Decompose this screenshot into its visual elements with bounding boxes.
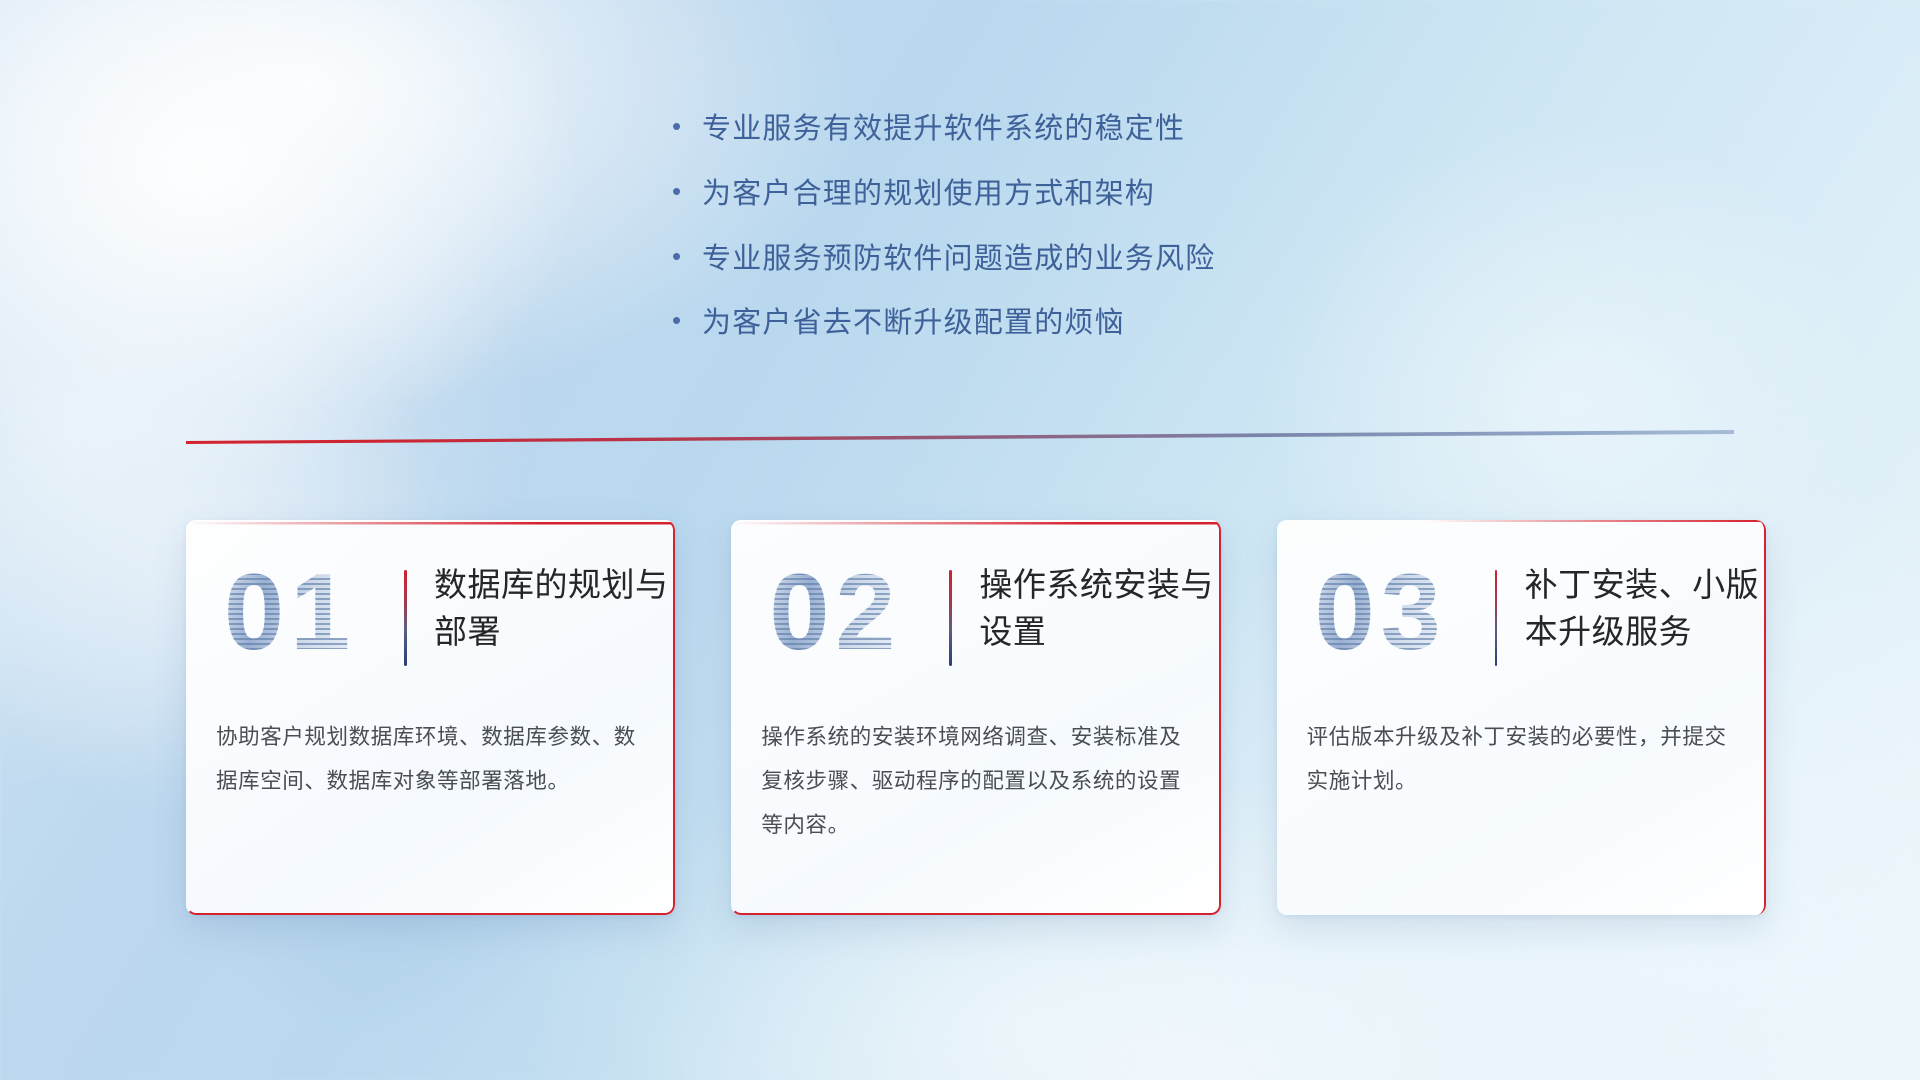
bullet-marker-icon: •: [672, 113, 702, 139]
card-header: 01 数据库的规划与部署: [216, 554, 645, 682]
bullet-marker-icon: •: [672, 307, 702, 333]
card-title-divider: [949, 570, 952, 666]
list-item: • 为客户省去不断升级配置的烦恼: [672, 306, 1432, 341]
card-header: 02 操作系统安装与设置: [761, 554, 1190, 682]
card-number-watermark: 03: [1315, 548, 1447, 675]
divider-shape-icon: [186, 430, 1734, 444]
bullet-marker-icon: •: [672, 243, 702, 269]
card-title-divider: [404, 570, 407, 666]
card-title: 数据库的规划与部署: [434, 562, 675, 656]
benefits-bullet-list: • 专业服务有效提升软件系统的稳定性 • 为客户合理的规划使用方式和架构 • 专…: [672, 112, 1432, 371]
card-title: 补丁安装、小版本升级服务: [1525, 562, 1766, 656]
bullet-text: 为客户合理的规划使用方式和架构: [702, 177, 1155, 212]
card-title-divider: [1495, 570, 1498, 666]
card-number-watermark: 02: [769, 548, 901, 675]
bullet-text: 专业服务有效提升软件系统的稳定性: [702, 112, 1185, 147]
card-title: 操作系统安装与设置: [979, 562, 1220, 656]
service-card[interactable]: 02 操作系统安装与设置 操作系统的安装环境网络调查、安装标准及复核步骤、驱动程…: [731, 520, 1220, 915]
list-item: • 专业服务有效提升软件系统的稳定性: [672, 112, 1432, 147]
service-card-list: 01 数据库的规划与部署 协助客户规划数据库环境、数据库参数、数据库空间、数据库…: [186, 520, 1766, 915]
background-glow-top-left: [0, 0, 580, 480]
section-divider: [186, 430, 1734, 444]
bullet-text: 专业服务预防软件问题造成的业务风险: [702, 242, 1215, 277]
service-card[interactable]: 03 补丁安装、小版本升级服务 评估版本升级及补丁安装的必要性，并提交实施计划。: [1277, 520, 1766, 915]
service-card[interactable]: 01 数据库的规划与部署 协助客户规划数据库环境、数据库参数、数据库空间、数据库…: [186, 520, 675, 915]
card-description: 协助客户规划数据库环境、数据库参数、数据库空间、数据库对象等部署落地。: [216, 716, 645, 804]
list-item: • 为客户合理的规划使用方式和架构: [672, 177, 1432, 212]
card-header: 03 补丁安装、小版本升级服务: [1307, 554, 1736, 682]
list-item: • 专业服务预防软件问题造成的业务风险: [672, 242, 1432, 277]
card-description: 评估版本升级及补丁安装的必要性，并提交实施计划。: [1307, 716, 1736, 804]
bullet-text: 为客户省去不断升级配置的烦恼: [702, 306, 1125, 341]
card-description: 操作系统的安装环境网络调查、安装标准及复核步骤、驱动程序的配置以及系统的设置等内…: [761, 716, 1190, 848]
card-number-watermark: 01: [224, 548, 356, 675]
bullet-marker-icon: •: [672, 178, 702, 204]
